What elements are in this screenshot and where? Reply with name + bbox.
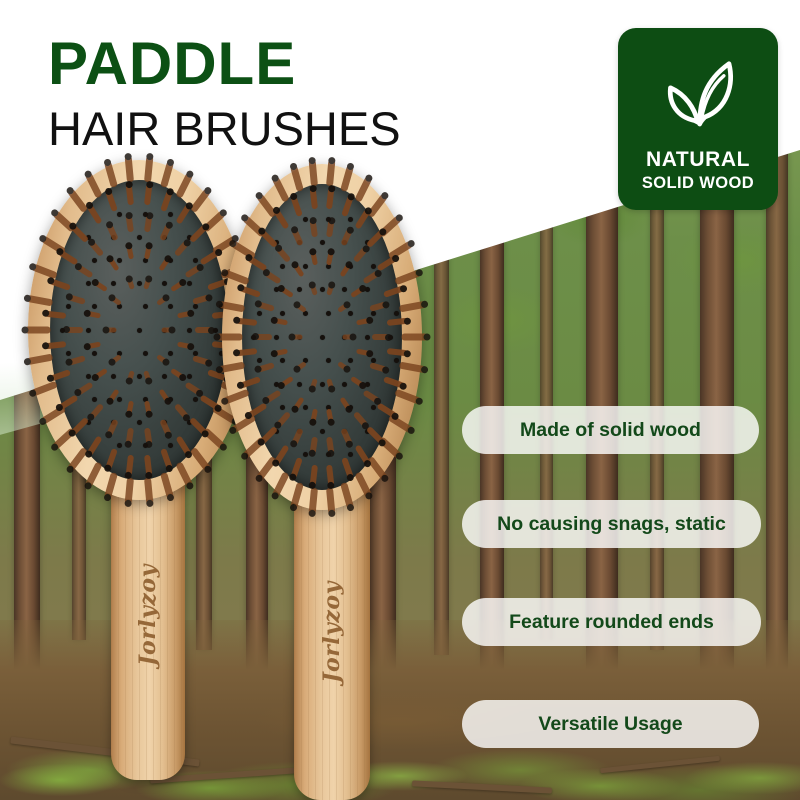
brush-bristle [67, 189, 88, 214]
brush-bristle [160, 472, 174, 499]
brush-bristle [125, 156, 134, 183]
bristle-base-dot [280, 358, 285, 363]
brush-bristle [399, 361, 426, 373]
bristle-base-dot [86, 281, 91, 286]
brush-bristle [104, 161, 118, 188]
leaf-icon [655, 50, 741, 136]
bristle-base-dot [168, 212, 173, 217]
brush-bristle [290, 165, 304, 192]
title-line-paddle: PADDLE [48, 34, 401, 94]
brush-bristle [340, 482, 354, 509]
bristle-base-dot [257, 311, 262, 316]
bristle-base-dot [137, 328, 142, 333]
brush-bristle [272, 177, 290, 203]
brush-bristle [189, 189, 210, 214]
brush-bristle [399, 301, 426, 313]
brush-bristle [255, 334, 272, 340]
brush-bristle [223, 388, 250, 404]
feature-pill-label: Made of solid wood [520, 419, 701, 442]
brush-bristle [218, 361, 245, 373]
bristle-base-dot [193, 304, 198, 309]
brush-bristle [85, 172, 103, 198]
feature-pill-label: No causing snags, static [497, 513, 726, 536]
brush-bristle [367, 193, 388, 218]
bristle-base-dot [326, 358, 331, 363]
feature-pill[interactable]: Feature rounded ends [462, 598, 761, 646]
bristle-base-dot [394, 358, 399, 363]
brush-bristle [106, 328, 117, 333]
bristle-base-dot [365, 335, 370, 340]
bristle-base-dot [348, 217, 353, 222]
brush-bristle [25, 327, 51, 334]
brush-bristle [326, 160, 335, 187]
bristle-base-dot [280, 311, 285, 316]
bristle-base-dot [168, 304, 173, 309]
bristle-base-dot [371, 264, 376, 269]
bristle-base-dot [162, 281, 167, 286]
badge-label-natural: NATURAL [646, 148, 750, 172]
bristle-base-dot [348, 311, 353, 316]
brush-bristle [45, 311, 67, 319]
bristle-base-dot [117, 212, 122, 217]
brush-bristle [85, 461, 103, 487]
bristle-base-dot [280, 405, 285, 410]
bristle-base-dot [187, 281, 192, 286]
bristle-base-dot [303, 264, 308, 269]
bristle-base-dot [187, 374, 192, 379]
brush-bristle [218, 301, 245, 313]
brush-bristle [161, 328, 172, 333]
bristle-base-dot [303, 452, 308, 457]
brush-bristle [175, 461, 193, 487]
brush-bristle [189, 446, 210, 471]
brush-bristle [195, 327, 212, 333]
brush-bristle [326, 487, 335, 514]
bristle-base-dot [320, 240, 325, 245]
bristle-base-dot [168, 351, 173, 356]
brush-head [28, 160, 250, 500]
bristle-base-dot [371, 311, 376, 316]
brush-bristle [31, 264, 58, 280]
natural-solid-wood-badge: NATURAL SOLID WOOD [618, 28, 778, 210]
bristle-base-dot [320, 335, 325, 340]
bristle-base-dot [117, 397, 122, 402]
bristle-base-dot [137, 420, 142, 425]
bristle-base-dot [137, 374, 142, 379]
brush-bristle [272, 471, 290, 497]
bristle-base-dot [66, 351, 71, 356]
brush-bristle [401, 334, 427, 341]
brush-bristle [66, 327, 83, 333]
bristle-base-dot [92, 397, 97, 402]
bristle-base-dot [92, 304, 97, 309]
bristle-base-dot [326, 311, 331, 316]
bristle-base-dot [66, 304, 71, 309]
brush-bristle [367, 456, 388, 481]
bristle-base-dot [92, 258, 97, 263]
brush-head [222, 164, 422, 510]
bristle-base-dot [297, 287, 302, 292]
brush-bristle [291, 335, 302, 340]
bristle-base-dot [371, 405, 376, 410]
bristle-base-dot [342, 287, 347, 292]
brush-bristle [395, 388, 422, 404]
bristle-base-dot [86, 328, 91, 333]
page-title: PADDLE HAIR BRUSHES [48, 34, 401, 152]
brush-bristle [290, 482, 304, 509]
brush-bristle [67, 446, 88, 471]
brush-bristle [354, 177, 372, 203]
feature-pill[interactable]: Versatile Usage [462, 700, 759, 748]
bristle-base-dot [348, 358, 353, 363]
paddle-brush-right: Jorlyzoy [222, 164, 442, 784]
bristle-base-dot [348, 452, 353, 457]
feature-pill-label: Versatile Usage [538, 713, 682, 736]
feature-pill-label: Feature rounded ends [509, 611, 714, 634]
bristle-base-dot [257, 358, 262, 363]
brush-bristle [309, 160, 318, 187]
bristle-base-dot [111, 281, 116, 286]
brush-bristle [26, 294, 53, 306]
brush-bristle [31, 380, 58, 396]
brush-bristle [175, 172, 193, 198]
brush-handle-logo: Jorlyzoy [135, 564, 161, 666]
bristle-base-dot [187, 328, 192, 333]
bristle-base-dot [162, 374, 167, 379]
bristle-base-dot [143, 304, 148, 309]
bristle-base-dot [280, 264, 285, 269]
brush-handle-logo: Jorlyzoy [319, 581, 345, 683]
brush-bristle [340, 165, 354, 192]
bristle-base-dot [394, 311, 399, 316]
bristle-base-dot [86, 374, 91, 379]
title-line-hair-brushes: HAIR BRUSHES [48, 105, 401, 152]
brush-bristle [160, 161, 174, 188]
bristle-base-dot [143, 351, 148, 356]
brush-bristle [217, 334, 243, 341]
bristle-base-dot [320, 287, 325, 292]
bristle-base-dot [193, 258, 198, 263]
brush-bristle [104, 472, 118, 499]
bristle-base-dot [168, 443, 173, 448]
brush-bristle [342, 335, 353, 340]
bristle-base-dot [137, 235, 142, 240]
bristle-base-dot [193, 397, 198, 402]
brush-bristle [144, 156, 153, 183]
brush-bristle [395, 270, 422, 286]
bristle-base-dot [137, 281, 142, 286]
bristle-base-dot [117, 443, 122, 448]
brush-bristle [223, 270, 250, 286]
feature-pill[interactable]: Made of solid wood [462, 406, 759, 454]
bristle-base-dot [320, 382, 325, 387]
bristle-base-dot [92, 351, 97, 356]
brush-bristle [372, 334, 389, 340]
bristle-base-dot [303, 217, 308, 222]
bristle-base-dot [320, 429, 325, 434]
bristle-base-dot [274, 335, 279, 340]
bristle-base-dot [111, 374, 116, 379]
bristle-base-dot [297, 382, 302, 387]
feature-pill[interactable]: No causing snags, static [462, 500, 761, 548]
brush-bristle [26, 354, 53, 366]
bristle-base-dot [117, 258, 122, 263]
brush-bristle [144, 478, 153, 505]
bristle-base-dot [342, 382, 347, 387]
brush-bristle [354, 471, 372, 497]
badge-label-solid-wood: SOLID WOOD [642, 174, 754, 193]
brush-bristle [256, 193, 277, 218]
bristle-base-dot [303, 405, 308, 410]
product-marketing-image: PADDLE HAIR BRUSHES NATURAL SOLID WOOD J… [0, 0, 800, 800]
